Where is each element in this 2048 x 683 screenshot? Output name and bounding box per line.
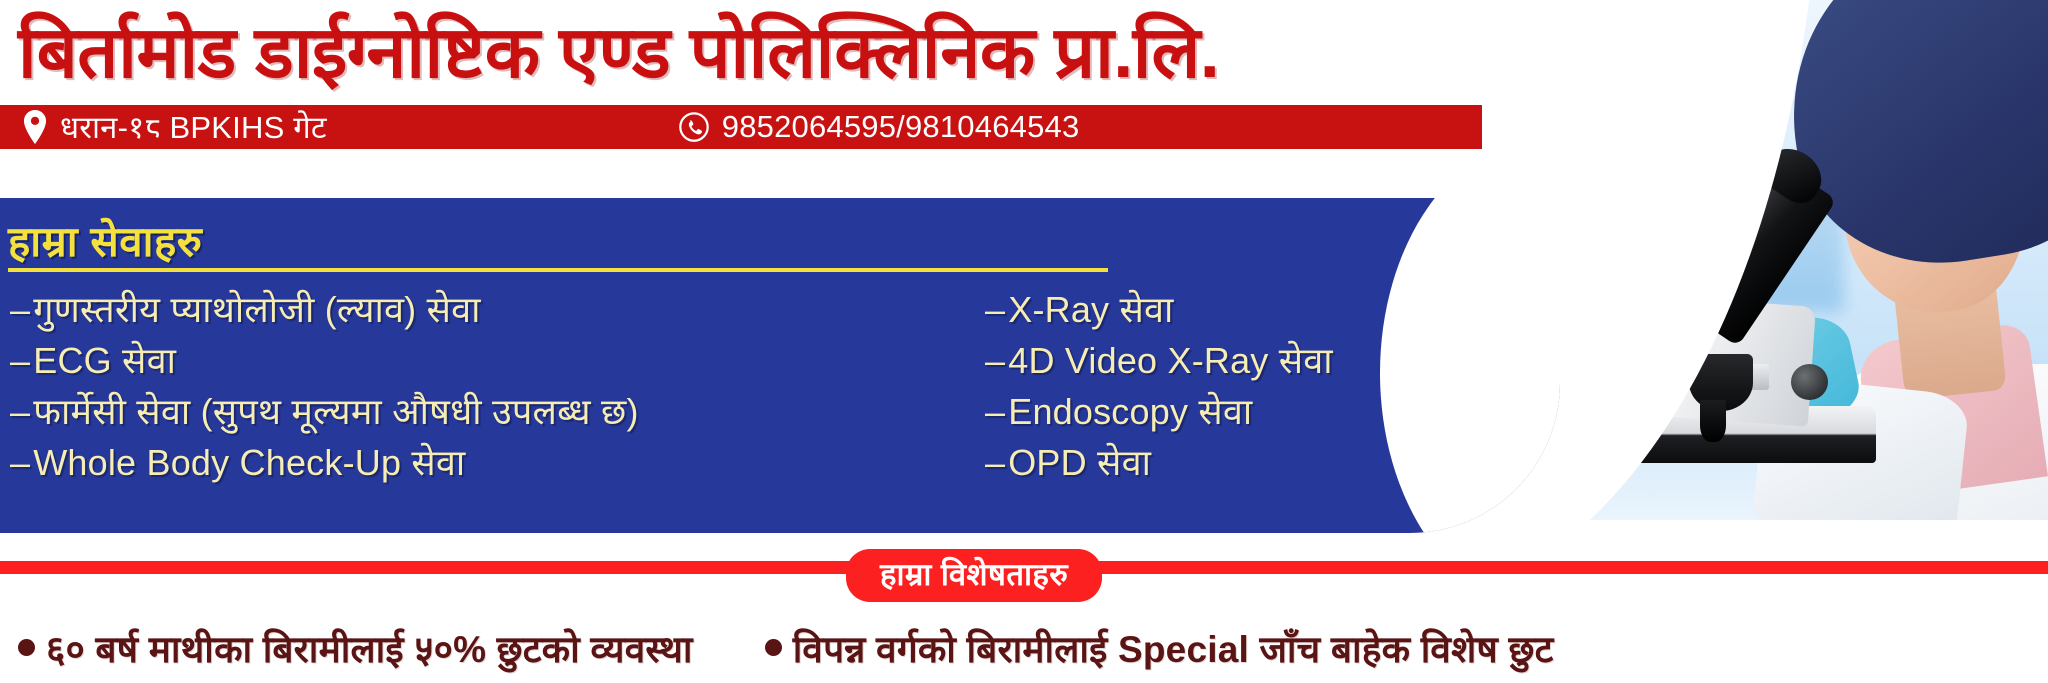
dash-marker: – [10,391,30,432]
service-item: –OPD सेवा [985,437,1545,488]
service-item: –ECG सेवा [10,335,770,386]
specialties-heading-pill: हाम्रा विशेषताहरु [846,549,1102,602]
title-area: बिर्तामोड डाईग्नोष्टिक एण्ड पोलिक्लिनिक … [0,0,1560,104]
phone-block: 9852064595/9810464543 [679,109,1080,145]
service-item: –गुणस्तरीय प्याथोलोजी (ल्याव) सेवा [10,284,770,335]
dash-marker: – [985,289,1005,330]
service-label: Endoscopy सेवा [1008,391,1252,432]
services-panel: हाम्रा सेवाहरु –गुणस्तरीय प्याथोलोजी (ल्… [0,198,1560,533]
phone-text: 9852064595/9810464543 [722,109,1080,145]
service-label: Whole Body Check-Up सेवा [33,442,465,483]
bullet-dot-icon [18,639,35,656]
services-right-column: –X-Ray सेवा –4D Video X-Ray सेवा –Endosc… [985,284,1545,488]
clinic-title: बिर्तामोड डाईग्नोष्टिक एण्ड पोलिक्लिनिक … [18,2,1538,104]
specialty-label: ६० बर्ष माथीका बिरामीलाई ५०% छुटको व्यवस… [46,622,693,673]
service-item: –X-Ray सेवा [985,284,1545,335]
service-label: OPD सेवा [1008,442,1151,483]
dash-marker: – [985,340,1005,381]
specialties-row: ६० बर्ष माथीका बिरामीलाई ५०% छुटको व्यवस… [0,612,2048,683]
contact-bar: धरान-१८ BPKIHS गेट 9852064595/9810464543 [0,105,1482,149]
service-label: X-Ray सेवा [1008,289,1173,330]
microscope-objective [1700,400,1727,442]
service-item: –फार्मेसी सेवा (सुपथ मूल्यमा औषधी उपलब्ध… [10,386,770,437]
specialty-item: ६० बर्ष माथीका बिरामीलाई ५०% छुटको व्यवस… [18,622,693,673]
heading-underline [8,268,1108,272]
clinic-advertisement-banner: बिर्तामोड डाईग्नोष्टिक एण्ड पोलिक्लिनिक … [0,0,2048,683]
location-pin-icon [22,110,48,144]
service-label: 4D Video X-Ray सेवा [1008,340,1333,381]
dash-marker: – [985,442,1005,483]
dash-marker: – [10,289,30,330]
dash-marker: – [10,442,30,483]
dash-marker: – [985,391,1005,432]
address-text: धरान-१८ BPKIHS गेट [60,106,327,148]
address-block: धरान-१८ BPKIHS गेट [22,106,327,148]
service-label: गुणस्तरीय प्याथोलोजी (ल्याव) सेवा [33,289,480,330]
phone-icon [679,112,709,142]
bullet-dot-icon [765,639,782,656]
specialty-label: विपन्न वर्गको बिरामीलाई Special जाँच बाह… [793,622,1554,673]
service-item: –4D Video X-Ray सेवा [985,335,1545,386]
services-heading: हाम्रा सेवाहरु [8,212,202,269]
specialty-item: विपन्न वर्गको बिरामीलाई Special जाँच बाह… [765,622,1554,673]
dash-marker: – [10,340,30,381]
lab-technician-photo [1512,0,2048,520]
service-item: –Endoscopy सेवा [985,386,1545,437]
service-item: –Whole Body Check-Up सेवा [10,437,770,488]
service-label: ECG सेवा [33,340,176,381]
service-label: फार्मेसी सेवा (सुपथ मूल्यमा औषधी उपलब्ध … [33,391,638,432]
services-left-column: –गुणस्तरीय प्याथोलोजी (ल्याव) सेवा –ECG … [10,284,770,488]
